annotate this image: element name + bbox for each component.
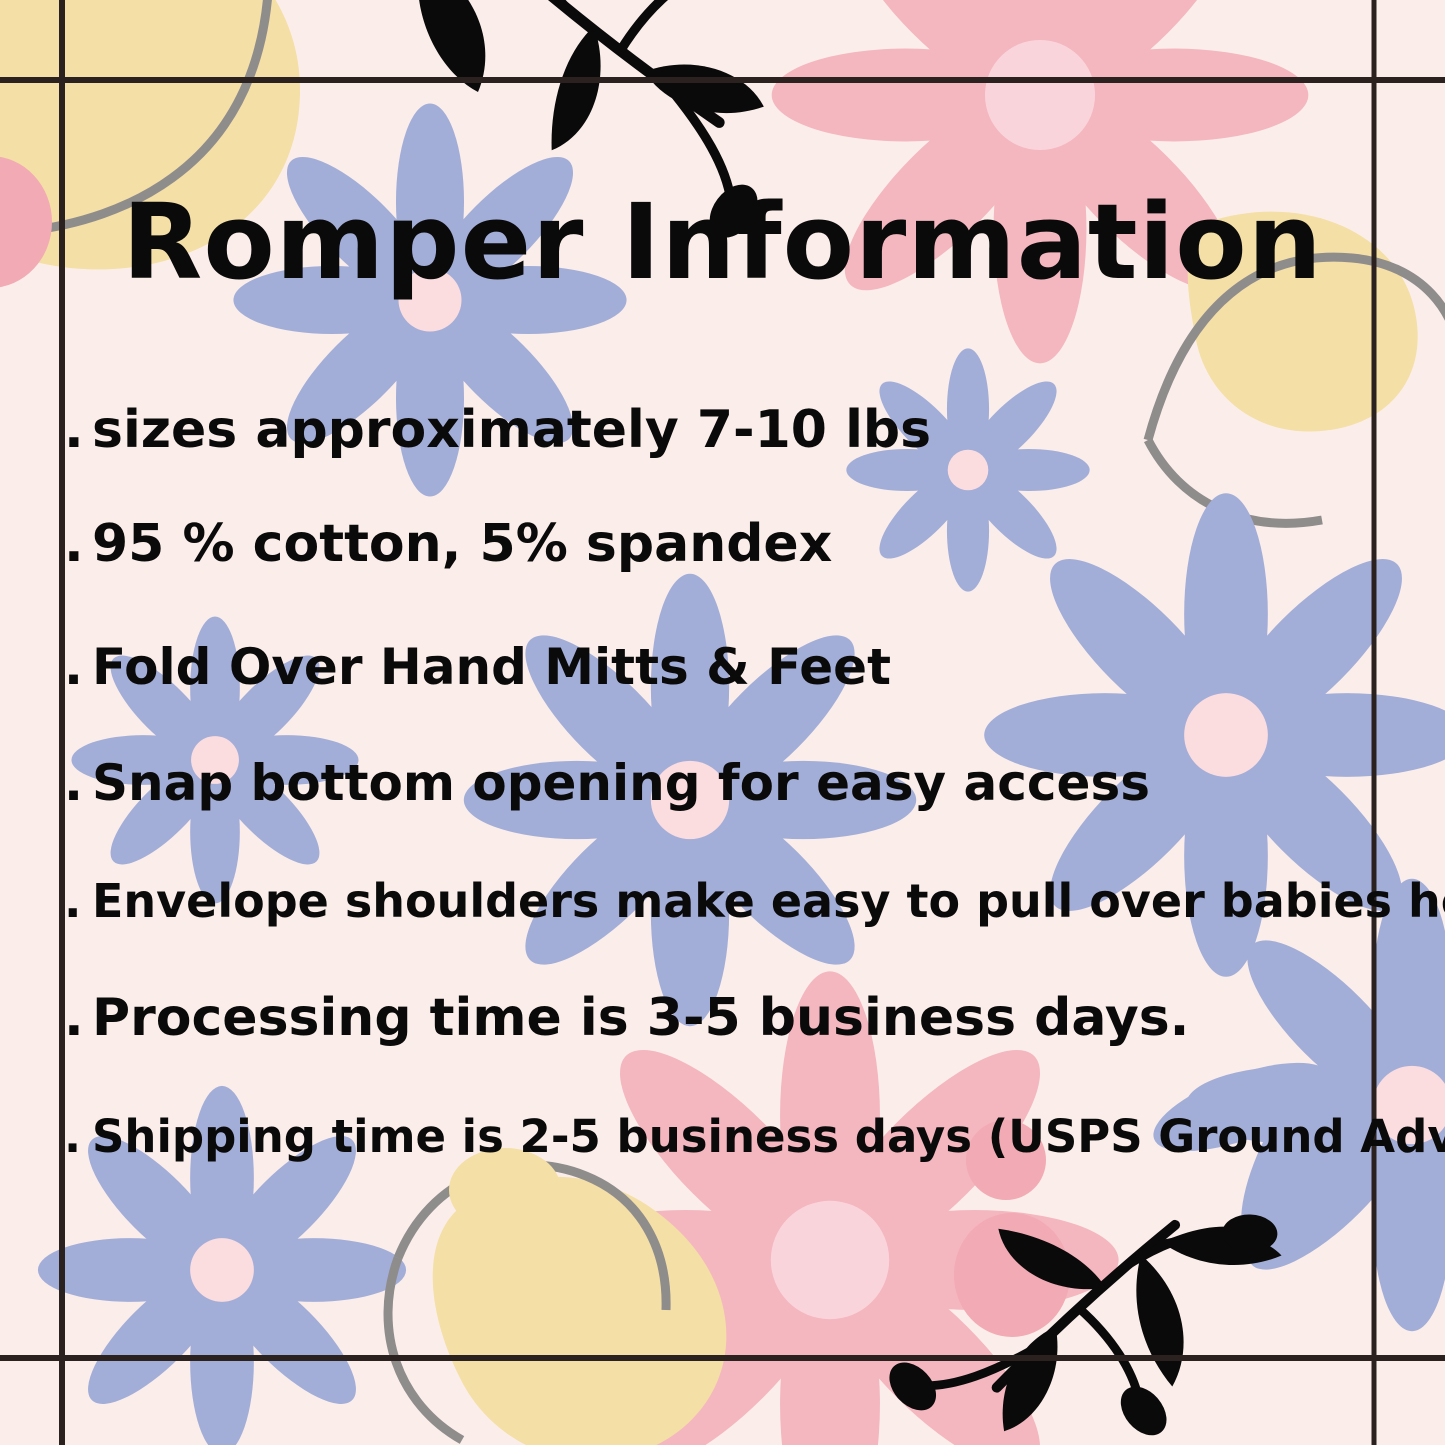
list-item: .95 % cotton, 5% spandex xyxy=(64,518,832,570)
page-title: Romper Information xyxy=(0,185,1445,299)
list-item-label: Envelope shoulders make easy to pull ove… xyxy=(92,874,1445,928)
text-content: Romper Information .sizes approximately … xyxy=(0,0,1445,1445)
list-item: .Snap bottom opening for easy access xyxy=(64,758,1150,808)
bullet-marker: . xyxy=(64,1114,92,1159)
bullet-marker: . xyxy=(64,992,92,1044)
bullet-marker: . xyxy=(64,404,92,456)
bullet-marker: . xyxy=(64,518,92,570)
bullet-marker: . xyxy=(64,878,92,924)
list-item: .Shipping time is 2-5 business days (USP… xyxy=(64,1114,1445,1159)
list-item: .Fold Over Hand Mitts & Feet xyxy=(64,642,891,692)
list-item-label: Fold Over Hand Mitts & Feet xyxy=(92,638,891,696)
list-item-label: 95 % cotton, 5% spandex xyxy=(92,514,832,574)
list-item: .Envelope shoulders make easy to pull ov… xyxy=(64,878,1445,924)
list-item-label: Snap bottom opening for easy access xyxy=(92,754,1150,812)
list-item: .Processing time is 3-5 business days. xyxy=(64,992,1189,1044)
list-item-label: sizes approximately 7-10 lbs xyxy=(92,400,931,460)
list-item: .sizes approximately 7-10 lbs xyxy=(64,404,931,456)
list-item-label: Processing time is 3-5 business days. xyxy=(92,988,1189,1048)
bullet-marker: . xyxy=(64,758,92,808)
poster-canvas: Romper Information .sizes approximately … xyxy=(0,0,1445,1445)
list-item-label: Shipping time is 2-5 business days (USPS… xyxy=(92,1110,1445,1163)
bullet-marker: . xyxy=(64,642,92,692)
